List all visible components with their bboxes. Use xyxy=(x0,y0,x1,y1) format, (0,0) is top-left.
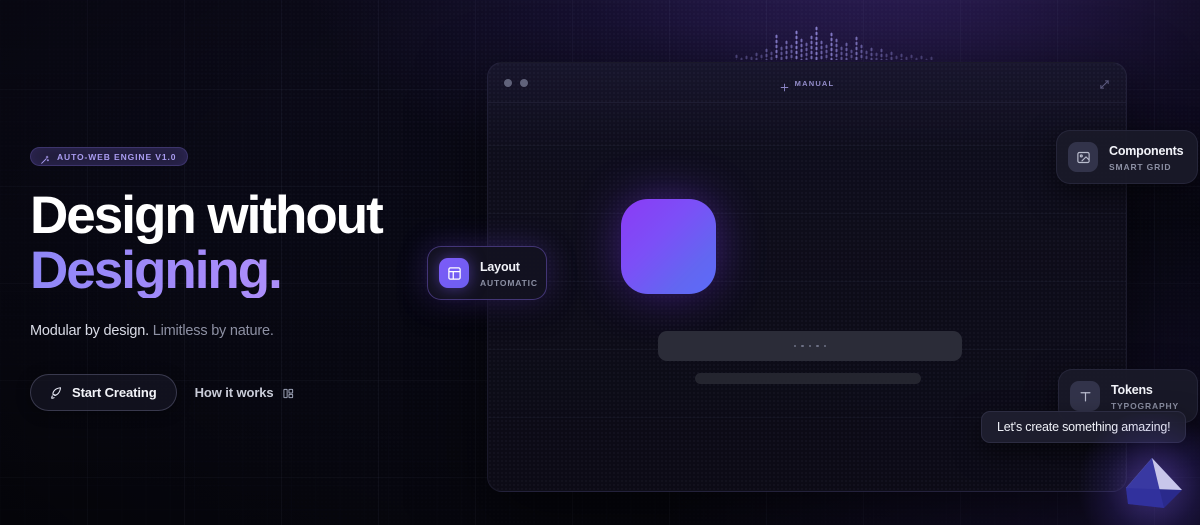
subtitle: Modular by design. Limitless by nature. xyxy=(30,323,274,339)
cta-row: Start Creating How it works xyxy=(30,374,294,411)
loading-dot xyxy=(816,345,819,348)
how-it-works-label: How it works xyxy=(195,385,274,400)
headline-line-2: Designing. xyxy=(30,243,460,298)
window-dot-2[interactable] xyxy=(520,79,528,87)
magic-wand-icon xyxy=(40,152,50,162)
loading-dot xyxy=(801,345,804,348)
loading-dot xyxy=(809,345,812,348)
canvas-placeholder-bar-secondary xyxy=(695,373,921,384)
feature-card-layout[interactable]: Layout AUTOMATIC xyxy=(427,246,547,300)
feature-card-title: Tokens xyxy=(1111,383,1153,397)
product-badge: AUTO-WEB ENGINE V1.0 xyxy=(30,147,188,166)
canvas-placeholder-bar xyxy=(658,331,962,361)
feature-card-subtitle: TYPOGRAPHY xyxy=(1111,401,1179,411)
product-badge-label: AUTO-WEB ENGINE V1.0 xyxy=(57,152,176,162)
layout-panel-icon xyxy=(439,258,469,288)
expand-diagonal-icon[interactable] xyxy=(1099,77,1110,88)
page-title: Design without Designing. xyxy=(30,188,460,298)
feature-card-components[interactable]: Components SMART GRID xyxy=(1056,130,1198,184)
hero-content: AUTO-WEB ENGINE V1.0 Design without Desi… xyxy=(30,0,460,525)
subtitle-strong: Modular by design. xyxy=(30,323,149,339)
headline-line-1: Design without xyxy=(30,188,460,243)
feature-card-title: Layout xyxy=(480,260,520,274)
subtitle-muted: Limitless by nature. xyxy=(153,323,274,339)
start-creating-button[interactable]: Start Creating xyxy=(30,374,177,411)
feature-card-subtitle: AUTOMATIC xyxy=(480,278,538,288)
window-dot-1[interactable] xyxy=(504,79,512,87)
loading-dot xyxy=(794,345,797,348)
canvas-artboard-shape[interactable] xyxy=(621,199,716,294)
gem-icon xyxy=(1106,444,1198,525)
loading-dot xyxy=(824,345,827,348)
rocket-icon xyxy=(50,386,64,400)
how-it-works-button[interactable]: How it works xyxy=(195,385,294,400)
start-creating-label: Start Creating xyxy=(72,385,157,400)
image-icon xyxy=(1068,142,1098,172)
gem-decoration xyxy=(1106,444,1198,525)
feature-card-subtitle: SMART GRID xyxy=(1109,162,1183,172)
window-titlebar xyxy=(488,63,1126,103)
typography-t-icon xyxy=(1070,381,1100,411)
hero-landing-page: AUTO-WEB ENGINE V1.0 Design without Desi… xyxy=(0,0,1200,525)
play-grid-icon xyxy=(283,387,294,398)
window-controls[interactable] xyxy=(504,79,528,87)
feature-card-title: Components xyxy=(1109,144,1183,158)
